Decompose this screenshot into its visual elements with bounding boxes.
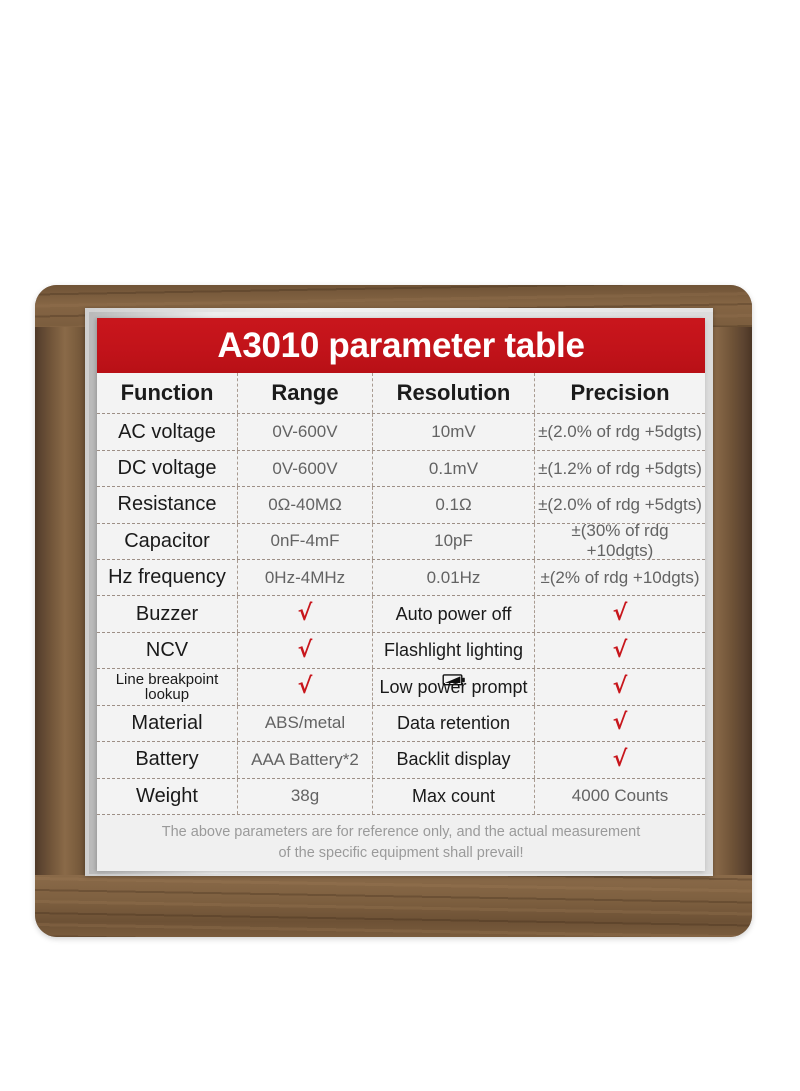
cell-range: 0nF-4mF: [238, 524, 373, 559]
cell-resolution: 0.01Hz: [373, 560, 535, 595]
card-title-bar: A3010 parameter table: [97, 318, 705, 373]
column-header-range: Range: [238, 373, 373, 413]
table-row: Resistance 0Ω-40MΩ 0.1Ω ±(2.0% of rdg +5…: [97, 487, 705, 523]
cell-function: Line breakpoint lookup: [97, 669, 238, 704]
disclaimer-line2: of the specific equipment shall prevail!: [278, 845, 523, 861]
table-row: Weight 38g Max count 4000 Counts: [97, 779, 705, 815]
function-label-line2: lookup: [116, 687, 219, 702]
cell-range: 38g: [238, 779, 373, 814]
cell-precision: ±(2.0% of rdg +5dgts): [535, 414, 705, 449]
cell-check-mark: √: [535, 669, 705, 704]
table-row: Battery AAA Battery*2 Backlit display √: [97, 742, 705, 778]
table-row: DC voltage 0V-600V 0.1mV ±(1.2% of rdg +…: [97, 451, 705, 487]
cell-function: Battery: [97, 742, 238, 777]
parameter-card: A3010 parameter table Function Range Res…: [97, 318, 705, 871]
cell-check-mark: √: [535, 633, 705, 668]
battery-low-icon: [442, 674, 465, 686]
cell-precision: ±(2.0% of rdg +5dgts): [535, 487, 705, 522]
cell-resolution: 10mV: [373, 414, 535, 449]
cell-range: ABS/metal: [238, 706, 373, 741]
cell-check-mark: √: [535, 596, 705, 631]
parameter-table: Function Range Resolution Precision AC v…: [97, 373, 705, 815]
page-title: A3010 parameter table: [217, 326, 584, 366]
cell-resolution: 10pF: [373, 524, 535, 559]
product-image-canvas: A3010 parameter table Function Range Res…: [0, 0, 800, 1091]
cell-range: 0V-600V: [238, 414, 373, 449]
table-row: Capacitor 0nF-4mF 10pF ±(30% of rdg +10d…: [97, 524, 705, 560]
cell-range: AAA Battery*2: [238, 742, 373, 777]
cell-check-mark: √: [535, 706, 705, 741]
cell-resolution: 0.1mV: [373, 451, 535, 486]
cell-function: Hz frequency: [97, 560, 238, 595]
disclaimer-footer: The above parameters are for reference o…: [97, 815, 705, 871]
table-row: AC voltage 0V-600V 10mV ±(2.0% of rdg +5…: [97, 414, 705, 450]
cell-resolution: 0.1Ω: [373, 487, 535, 522]
cell-function: Buzzer: [97, 596, 238, 631]
column-header-precision: Precision: [535, 373, 705, 413]
cell-feature-label: Flashlight lighting: [373, 633, 535, 668]
cell-check-mark: √: [238, 669, 373, 704]
table-row: Line breakpoint lookup √ Low power promp…: [97, 669, 705, 705]
cell-precision: ±(30% of rdg +10dgts): [535, 524, 705, 559]
cell-function: Weight: [97, 779, 238, 814]
cell-function: DC voltage: [97, 451, 238, 486]
table-row: NCV √ Flashlight lighting √: [97, 633, 705, 669]
cell-range: 0V-600V: [238, 451, 373, 486]
cell-function: Resistance: [97, 487, 238, 522]
cell-range: 0Ω-40MΩ: [238, 487, 373, 522]
cell-check-mark: √: [535, 742, 705, 777]
cell-function: Material: [97, 706, 238, 741]
cell-function: Capacitor: [97, 524, 238, 559]
disclaimer-line1: The above parameters are for reference o…: [162, 824, 641, 840]
table-row: Material ABS/metal Data retention √: [97, 706, 705, 742]
cell-feature-label-low-power: Low power prompt: [373, 669, 535, 704]
cell-feature-label: Max count: [373, 779, 535, 814]
cell-range: 0Hz-4MHz: [238, 560, 373, 595]
cell-check-mark: √: [238, 596, 373, 631]
function-label-line1: Line breakpoint: [116, 672, 219, 687]
cell-function: AC voltage: [97, 414, 238, 449]
cell-check-mark: √: [238, 633, 373, 668]
column-header-function: Function: [97, 373, 238, 413]
cell-precision: ±(1.2% of rdg +5dgts): [535, 451, 705, 486]
table-header-row: Function Range Resolution Precision: [97, 373, 705, 414]
disclaimer-text: The above parameters are for reference o…: [162, 822, 641, 864]
cell-precision: 4000 Counts: [535, 779, 705, 814]
table-row: Hz frequency 0Hz-4MHz 0.01Hz ±(2% of rdg…: [97, 560, 705, 596]
cell-feature-label: Data retention: [373, 706, 535, 741]
column-header-resolution: Resolution: [373, 373, 535, 413]
cell-feature-label: Backlit display: [373, 742, 535, 777]
cell-function: NCV: [97, 633, 238, 668]
cell-feature-label: Auto power off: [373, 596, 535, 631]
wood-grain-bottom: [35, 875, 752, 937]
cell-precision: ±(2% of rdg +10dgts): [535, 560, 705, 595]
table-row: Buzzer √ Auto power off √: [97, 596, 705, 632]
